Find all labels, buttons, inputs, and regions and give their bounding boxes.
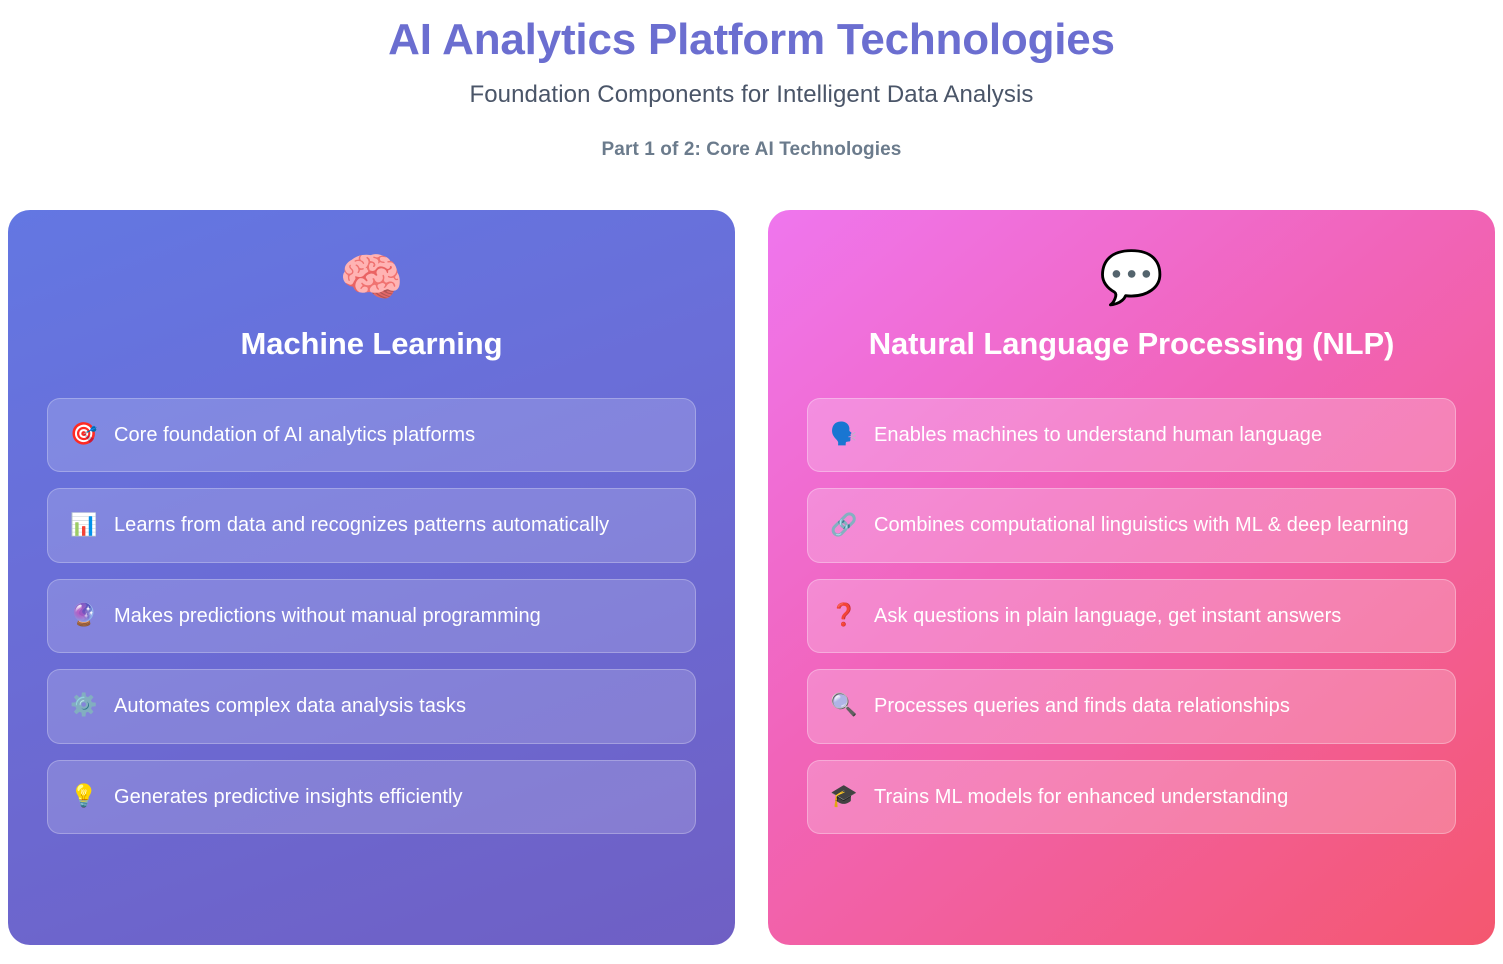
- part-indicator: Part 1 of 2: Core AI Technologies: [0, 139, 1503, 161]
- list-item-label: Core foundation of AI analytics platform…: [114, 419, 475, 451]
- list-item[interactable]: 🔮 Makes predictions without manual progr…: [47, 579, 696, 653]
- card-machine-learning: 🧠 Machine Learning 🎯 Core foundation of …: [8, 210, 735, 945]
- page-subtitle: Foundation Components for Intelligent Da…: [0, 81, 1503, 109]
- brain-icon: 🧠: [47, 252, 696, 314]
- list-item[interactable]: 📊 Learns from data and recognizes patter…: [47, 488, 696, 562]
- card-natural-language-processing: 💬 Natural Language Processing (NLP) 🗣️ E…: [768, 210, 1495, 945]
- speech-balloon-icon: 💬: [807, 252, 1456, 314]
- list-item-label: Learns from data and recognizes patterns…: [114, 509, 609, 541]
- list-item[interactable]: ⚙️ Automates complex data analysis tasks: [47, 669, 696, 743]
- list-item[interactable]: ❓ Ask questions in plain language, get i…: [807, 579, 1456, 653]
- list-item-label: Generates predictive insights efficientl…: [114, 781, 463, 813]
- magnifying-glass-icon: 🔍: [830, 695, 856, 717]
- question-mark-icon: ❓: [830, 605, 856, 627]
- list-item-label: Combines computational linguistics with …: [874, 509, 1409, 541]
- slide-header: AI Analytics Platform Technologies Found…: [0, 0, 1503, 161]
- card-title-machine-learning: Machine Learning: [47, 326, 696, 362]
- link-icon: 🔗: [830, 515, 856, 537]
- gear-icon: ⚙️: [70, 695, 96, 717]
- feature-list-machine-learning: 🎯 Core foundation of AI analytics platfo…: [47, 398, 696, 834]
- cards-container: 🧠 Machine Learning 🎯 Core foundation of …: [8, 210, 1495, 945]
- list-item[interactable]: 🔍 Processes queries and finds data relat…: [807, 669, 1456, 743]
- dart-target-icon: 🎯: [70, 424, 96, 446]
- list-item-label: Trains ML models for enhanced understand…: [874, 781, 1288, 813]
- list-item[interactable]: 💡 Generates predictive insights efficien…: [47, 760, 696, 834]
- list-item-label: Automates complex data analysis tasks: [114, 690, 466, 722]
- speaking-head-icon: 🗣️: [830, 424, 856, 446]
- list-item[interactable]: 🎓 Trains ML models for enhanced understa…: [807, 760, 1456, 834]
- list-item-label: Processes queries and finds data relatio…: [874, 690, 1290, 722]
- crystal-ball-icon: 🔮: [70, 605, 96, 627]
- list-item[interactable]: 🎯 Core foundation of AI analytics platfo…: [47, 398, 696, 472]
- slide-root: AI Analytics Platform Technologies Found…: [0, 0, 1503, 964]
- bar-chart-icon: 📊: [70, 515, 96, 537]
- card-title-natural-language-processing: Natural Language Processing (NLP): [807, 326, 1456, 362]
- lightbulb-icon: 💡: [70, 786, 96, 808]
- list-item-label: Enables machines to understand human lan…: [874, 419, 1322, 451]
- feature-list-natural-language-processing: 🗣️ Enables machines to understand human …: [807, 398, 1456, 834]
- list-item-label: Makes predictions without manual program…: [114, 600, 541, 632]
- graduation-cap-icon: 🎓: [830, 786, 856, 808]
- list-item-label: Ask questions in plain language, get ins…: [874, 600, 1341, 632]
- list-item[interactable]: 🗣️ Enables machines to understand human …: [807, 398, 1456, 472]
- list-item[interactable]: 🔗 Combines computational linguistics wit…: [807, 488, 1456, 562]
- page-title: AI Analytics Platform Technologies: [0, 14, 1503, 66]
